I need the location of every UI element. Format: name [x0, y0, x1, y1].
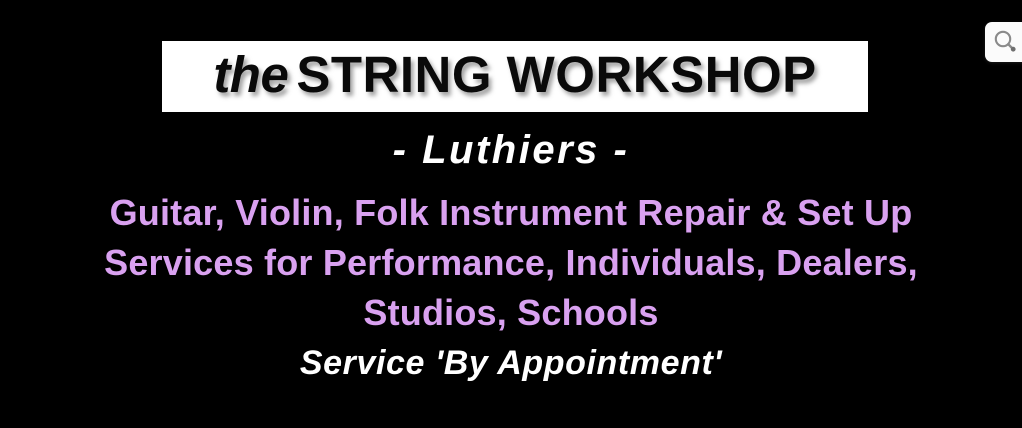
page-root: theSTRING WORKSHOP - Luthiers - Guitar, …	[0, 0, 1022, 428]
page-title: theSTRING WORKSHOP	[213, 49, 816, 100]
site-title-plaque: theSTRING WORKSHOP	[162, 41, 868, 112]
page-subtitle: - Luthiers -	[0, 126, 1022, 174]
services-line-1: Guitar, Violin, Folk Instrument Repair &…	[0, 188, 1022, 238]
services-block: Guitar, Violin, Folk Instrument Repair &…	[0, 188, 1022, 338]
services-line-3: Studios, Schools	[0, 288, 1022, 338]
page-title-prefix: the	[213, 46, 296, 103]
appointment-note: Service 'By Appointment'	[0, 340, 1022, 386]
search-icon	[992, 29, 1018, 55]
zoom-search-button[interactable]	[985, 22, 1022, 62]
services-line-2: Services for Performance, Individuals, D…	[0, 238, 1022, 288]
page-title-main: STRING WORKSHOP	[296, 46, 816, 103]
